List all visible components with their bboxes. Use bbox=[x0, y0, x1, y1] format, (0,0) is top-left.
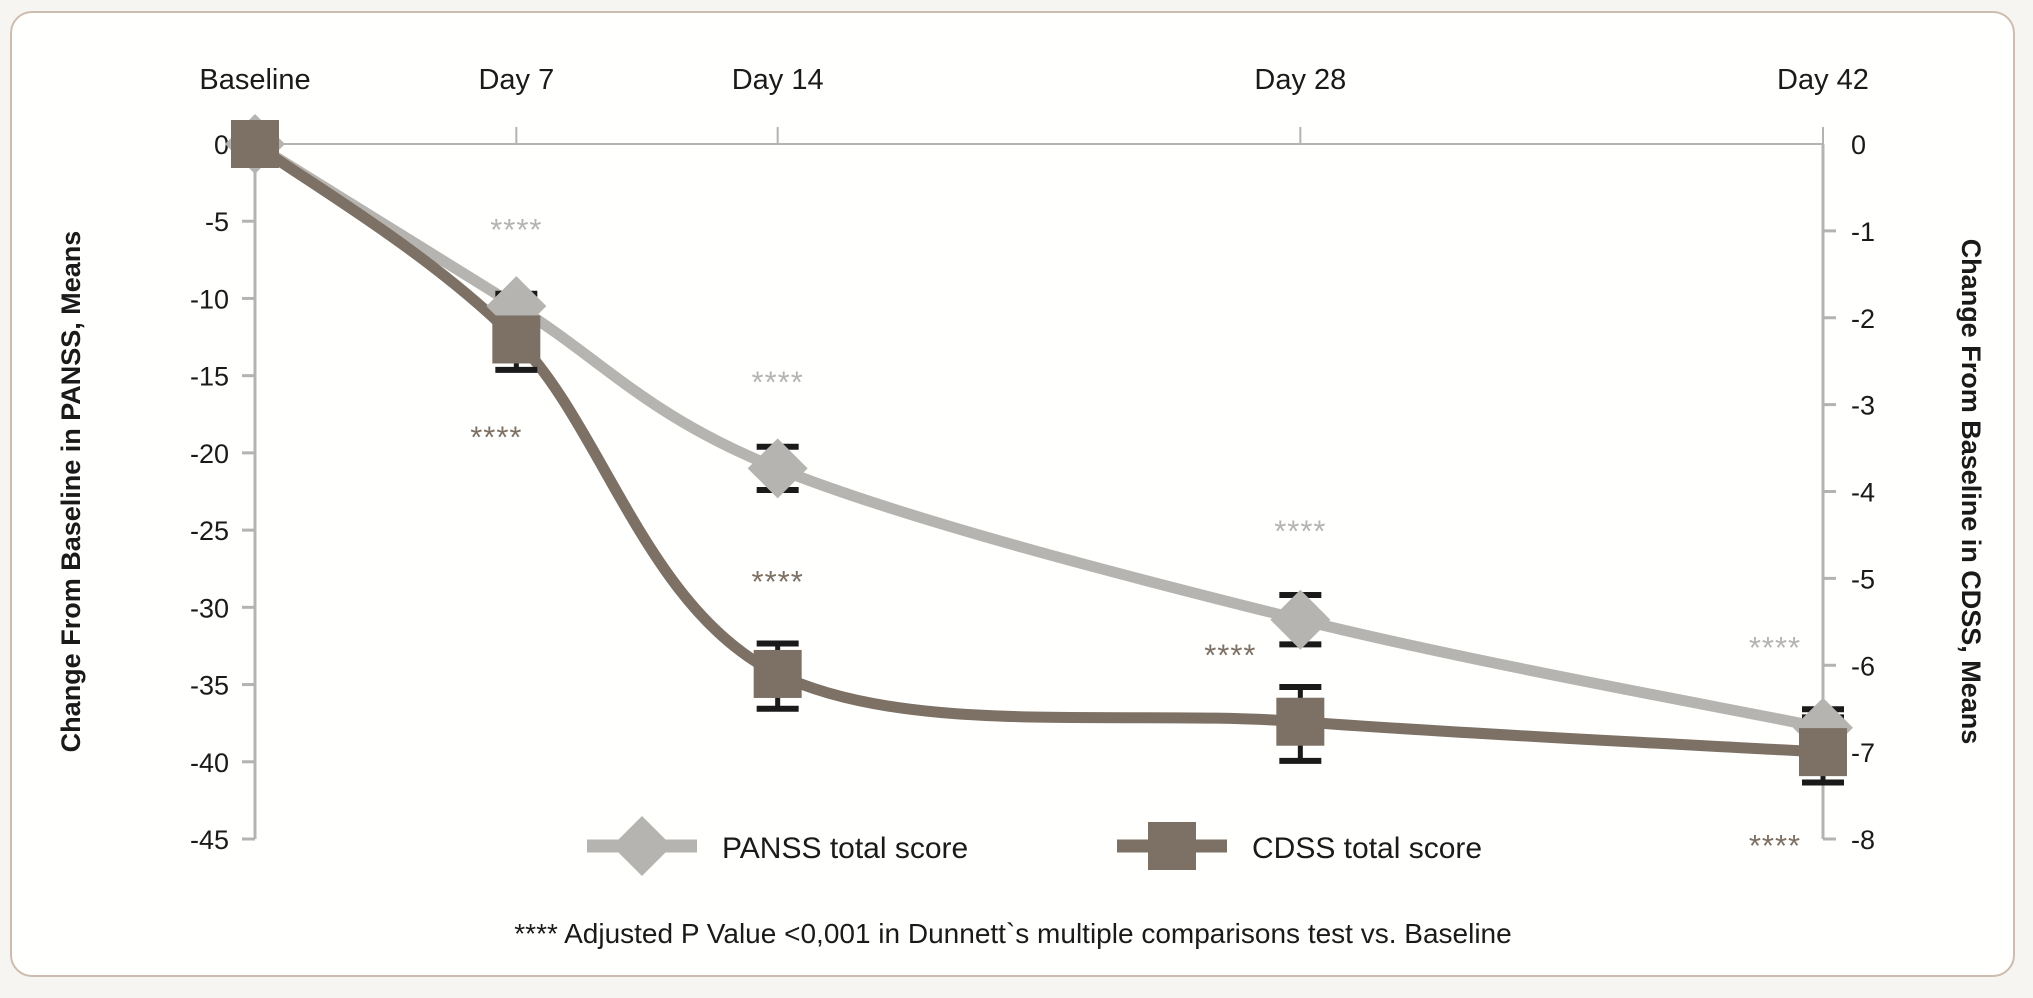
left-axis-tick-label: -30 bbox=[190, 593, 229, 623]
data-point-marker-diamond bbox=[1270, 590, 1330, 650]
left-axis-tick-label: -20 bbox=[190, 439, 229, 469]
data-point-marker-square bbox=[231, 120, 279, 168]
right-axis-tick-label: 0 bbox=[1851, 130, 1866, 160]
chart-card: 0-5-10-15-20-25-30-35-40-450-1-2-3-4-5-6… bbox=[10, 11, 2015, 977]
chart-svg: 0-5-10-15-20-25-30-35-40-450-1-2-3-4-5-6… bbox=[12, 13, 2013, 975]
data-point-marker-square bbox=[754, 650, 802, 698]
left-axis-title: Change From Baseline in PANSS, Means bbox=[56, 231, 86, 753]
significance-stars: **** bbox=[470, 419, 522, 454]
left-axis-tick-label: -40 bbox=[190, 748, 229, 778]
right-axis-tick-label: -3 bbox=[1851, 391, 1875, 421]
legend-marker-square bbox=[1148, 822, 1196, 870]
x-axis-category-label: Day 28 bbox=[1254, 64, 1346, 96]
right-axis-tick-label: -1 bbox=[1851, 217, 1875, 247]
right-axis-title: Change From Baseline in CDSS, Means bbox=[1956, 239, 1986, 745]
x-axis-category-label: Day 7 bbox=[478, 64, 554, 96]
significance-stars: **** bbox=[1274, 514, 1326, 549]
left-axis-tick-label: -10 bbox=[190, 284, 229, 314]
significance-stars: **** bbox=[752, 564, 804, 599]
data-point-marker-square bbox=[1276, 698, 1324, 746]
right-axis-tick-label: -6 bbox=[1851, 651, 1875, 681]
left-axis-tick-label: -35 bbox=[190, 671, 229, 701]
left-axis-tick-label: -45 bbox=[190, 825, 229, 855]
left-axis-tick-label: -25 bbox=[190, 516, 229, 546]
legend-label: CDSS total score bbox=[1252, 832, 1482, 865]
right-axis-tick-label: -4 bbox=[1851, 478, 1875, 508]
footnote-text: **** Adjusted P Value <0,001 in Dunnett`… bbox=[514, 918, 1511, 949]
data-point-marker-square bbox=[1799, 728, 1847, 776]
right-axis-tick-label: -7 bbox=[1851, 738, 1875, 768]
significance-stars: **** bbox=[752, 364, 804, 399]
right-axis-tick-label: -8 bbox=[1851, 825, 1875, 855]
significance-stars: **** bbox=[1204, 638, 1256, 673]
legend-label: PANSS total score bbox=[722, 832, 968, 865]
right-axis-tick-label: -5 bbox=[1851, 564, 1875, 594]
data-point-marker-square bbox=[492, 315, 540, 363]
legend-marker-diamond bbox=[612, 816, 672, 876]
significance-stars: **** bbox=[490, 212, 542, 247]
right-axis-tick-label: -2 bbox=[1851, 304, 1875, 334]
significance-stars: **** bbox=[1749, 630, 1801, 665]
dual-axis-line-chart: 0-5-10-15-20-25-30-35-40-450-1-2-3-4-5-6… bbox=[12, 13, 2013, 975]
significance-stars: **** bbox=[1749, 828, 1801, 863]
x-axis-category-label: Day 42 bbox=[1777, 64, 1869, 96]
x-axis-category-label: Baseline bbox=[199, 64, 310, 96]
left-axis-tick-label: -5 bbox=[205, 207, 229, 237]
x-axis-category-label: Day 14 bbox=[732, 64, 824, 96]
left-axis-tick-label: -15 bbox=[190, 362, 229, 392]
